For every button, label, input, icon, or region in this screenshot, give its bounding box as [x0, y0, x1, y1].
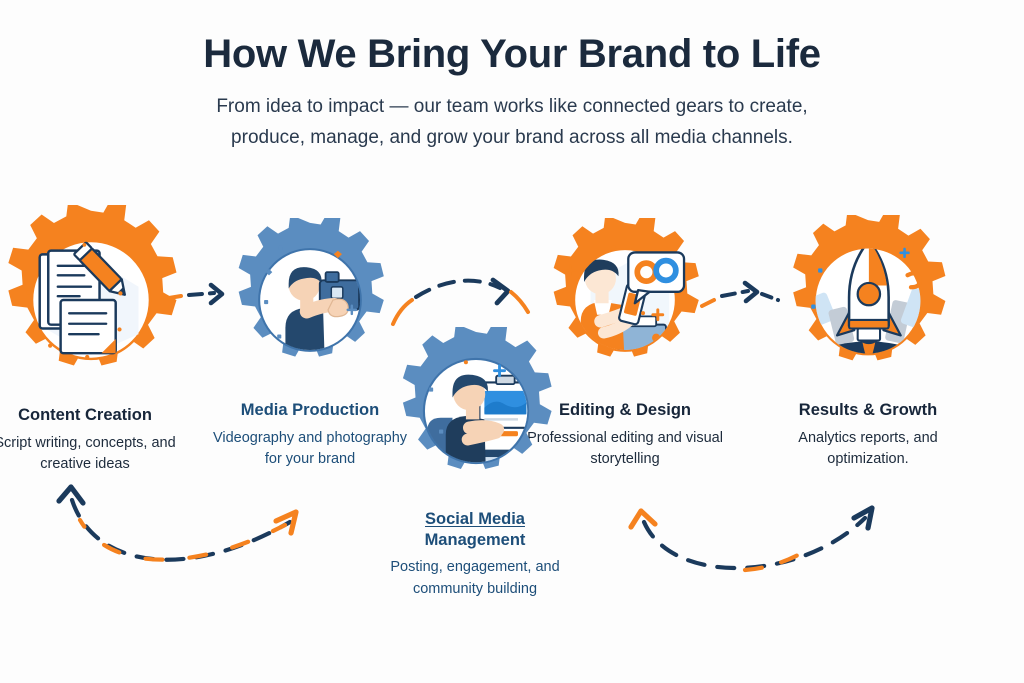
step-media-production[interactable]: Media Production Videography and photogr… — [228, 218, 392, 382]
header: How We Bring Your Brand to Life From ide… — [0, 0, 1024, 154]
gear-content-creation — [0, 205, 186, 395]
page-title: How We Bring Your Brand to Life — [0, 0, 1024, 78]
curve-bottom-left — [59, 487, 296, 560]
gear-social-media-management — [392, 327, 560, 495]
curve-bottom-right — [631, 508, 872, 570]
gear-media-production — [228, 218, 392, 382]
caption-title-rest: Management — [425, 531, 526, 549]
caption-title-media-production: Media Production — [205, 400, 415, 421]
caption-desc-media-production: Videography and photography for your bra… — [205, 428, 415, 472]
subtitle-line-2: produce, manage, and grow your brand acr… — [162, 123, 862, 154]
step-editing-design[interactable]: Editing & Design Professional editing an… — [543, 218, 707, 382]
caption-desc-results-growth: Analytics reports, and optimization. — [763, 428, 973, 472]
step-social-media-management[interactable]: Social MediaManagement Posting, engageme… — [392, 327, 560, 495]
arrow-editing-to-results — [702, 283, 778, 306]
caption-title-content-creation: Content Creation — [0, 405, 190, 426]
caption-title-social-media-management: Social MediaManagement — [370, 509, 580, 550]
infographic-canvas: How We Bring Your Brand to Life From ide… — [0, 0, 1024, 683]
page-subtitle: From idea to impact — our team works lik… — [162, 78, 862, 154]
caption-desc-social-media-management: Posting, engagement, and community build… — [370, 557, 580, 601]
step-results-growth[interactable]: Results & Growth Analytics reports, and … — [782, 215, 954, 387]
caption-results-growth: Results & Growth Analytics reports, and … — [763, 400, 973, 471]
subtitle-line-1: From idea to impact — our team works lik… — [162, 92, 862, 123]
caption-title-underlined-part: Social Media — [425, 510, 525, 528]
caption-social-media-management: Social MediaManagement Posting, engageme… — [370, 509, 580, 601]
caption-content-creation: Content Creation Script writing, concept… — [0, 405, 190, 476]
gear-editing-design — [543, 218, 707, 382]
step-content-creation[interactable]: Content Creation Script writing, concept… — [0, 205, 186, 395]
caption-desc-content-creation: Script writing, concepts, and creative i… — [0, 433, 190, 477]
caption-title-results-growth: Results & Growth — [763, 400, 973, 421]
gear-results-growth — [782, 215, 954, 387]
arrow-media-to-editing — [393, 280, 528, 324]
caption-media-production: Media Production Videography and photogr… — [205, 400, 415, 471]
